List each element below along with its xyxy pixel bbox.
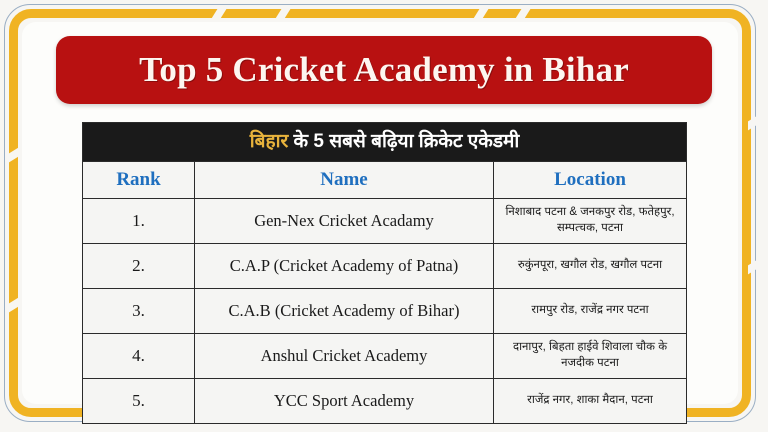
table-row: 3. C.A.B (Cricket Academy of Bihar) रामप… [83,289,687,334]
cell-rank: 5. [83,379,195,424]
frame-notch-left-2 [9,297,20,313]
academy-table-container: बिहार के 5 सबसे बढ़िया क्रिकेट एकेडमी Ra… [82,122,686,424]
frame-notch-right-1 [748,115,759,131]
frame-notch-left-1 [9,147,20,163]
column-header-name: Name [195,162,494,199]
hindi-subtitle: बिहार के 5 सबसे बढ़िया क्रिकेट एकेडमी [250,131,520,152]
cell-name: C.A.P (Cricket Academy of Patna) [195,244,494,289]
frame-notch-right-2 [748,259,759,275]
cell-location: राजेंद्र नगर, शाका मैदान, पटना [494,379,687,424]
cell-rank: 1. [83,199,195,244]
frame-notch-top-4 [515,9,531,20]
infographic-canvas: Top 5 Cricket Academy in Bihar बिहार के … [0,0,768,432]
cell-name: Anshul Cricket Academy [195,334,494,379]
table-hindi-banner-row: बिहार के 5 सबसे बढ़िया क्रिकेट एकेडमी [83,123,687,162]
page-title: Top 5 Cricket Academy in Bihar [139,50,629,90]
table-row: 2. C.A.P (Cricket Academy of Patna) रुकु… [83,244,687,289]
table-row: 4. Anshul Cricket Academy दानापुर, बिहता… [83,334,687,379]
academy-table: बिहार के 5 सबसे बढ़िया क्रिकेट एकेडमी Ra… [82,122,687,424]
cell-name: Gen-Nex Cricket Acadamy [195,199,494,244]
cell-location: दानापुर, बिहता हाईवे शिवाला चौक के नजदीक… [494,334,687,379]
hindi-subtitle-highlight: बिहार [250,131,289,152]
cell-rank: 3. [83,289,195,334]
column-header-rank: Rank [83,162,195,199]
table-row: 1. Gen-Nex Cricket Acadamy निशाबाद पटना … [83,199,687,244]
column-header-location: Location [494,162,687,199]
frame-notch-top-1 [211,9,227,20]
cell-location: रामपुर रोड, राजेंद्र नगर पटना [494,289,687,334]
cell-rank: 4. [83,334,195,379]
hindi-subtitle-rest: के 5 सबसे बढ़िया क्रिकेट एकेडमी [288,131,519,152]
cell-location: निशाबाद पटना & जनकपुर रोड, फतेहपुर, सम्प… [494,199,687,244]
table-row: 5. YCC Sport Academy राजेंद्र नगर, शाका … [83,379,687,424]
hindi-subtitle-cell: बिहार के 5 सबसे बढ़िया क्रिकेट एकेडमी [83,123,687,162]
title-banner: Top 5 Cricket Academy in Bihar [56,36,712,104]
cell-name: C.A.B (Cricket Academy of Bihar) [195,289,494,334]
cell-location: रुकुंनपूरा, खगौल रोड, खगौल पटना [494,244,687,289]
frame-notch-top-3 [473,9,489,20]
cell-name: YCC Sport Academy [195,379,494,424]
frame-notch-top-2 [275,9,291,20]
cell-rank: 2. [83,244,195,289]
table-header-row: Rank Name Location [83,162,687,199]
